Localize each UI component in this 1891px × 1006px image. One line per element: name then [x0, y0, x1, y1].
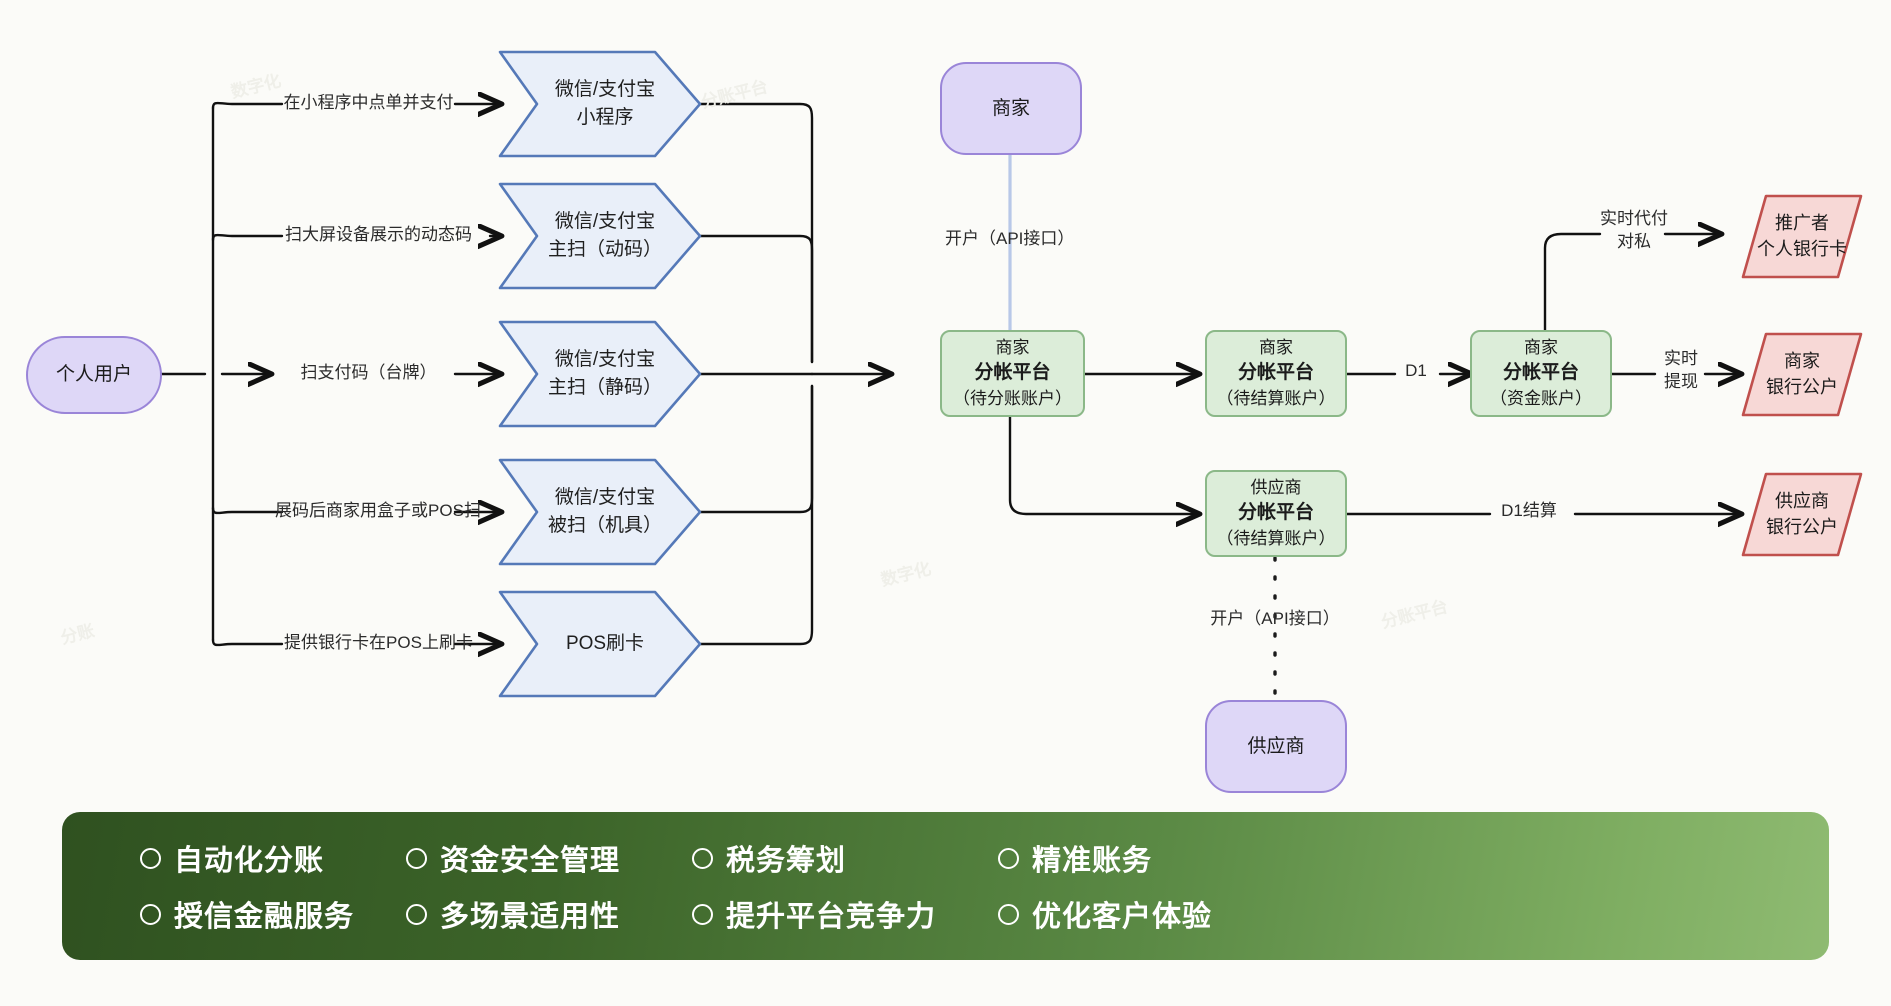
node-supplier-actor[interactable]: 供应商: [1205, 700, 1347, 793]
channel-line2: 小程序: [530, 104, 680, 132]
feature-item[interactable]: 自动化分账: [140, 837, 390, 879]
node-account-merchant-pending-split[interactable]: 商家 分帐平台 （待分账账户）: [940, 330, 1085, 417]
node-channel-scanned-device[interactable]: 微信/支付宝 被扫（机具）: [530, 460, 680, 564]
feature-label: 提升平台竞争力: [726, 893, 936, 935]
node-label: 个人用户: [56, 362, 132, 388]
edge-label-supplier-open-account: 开户（API接口）: [1165, 608, 1385, 631]
feature-row-1: 自动化分账 资金安全管理 税务筹划 精准账务: [140, 837, 1829, 879]
edge-label-realtime-agent-pay: 实时代付 对私: [1586, 208, 1682, 254]
edge-label-d1: D1: [1388, 360, 1444, 383]
node-endpoint-promoter-card[interactable]: 推广者 个人银行卡: [1743, 196, 1861, 277]
edge-label-pos-swipe: 提供银行卡在POS上刷卡: [267, 632, 490, 655]
feature-item[interactable]: 精准账务: [998, 837, 1248, 879]
channel-line1: POS刷卡: [530, 630, 680, 658]
endpoint-line2: 个人银行卡: [1743, 237, 1861, 262]
channel-line1: 微信/支付宝: [530, 484, 680, 512]
feature-item[interactable]: 优化客户体验: [998, 893, 1248, 935]
edge-label-line1: 实时代付: [1586, 208, 1682, 231]
channel-line2: 主扫（静码）: [530, 374, 680, 402]
feature-label: 优化客户体验: [1032, 893, 1212, 935]
feature-item[interactable]: 授信金融服务: [140, 893, 390, 935]
diagram-canvas: 数字化 分账平台 分账 数字化 分账平台 个人用户 商家 供应商 微信/支付宝 …: [0, 0, 1891, 1006]
edge-label-line1: 实时: [1650, 348, 1712, 371]
edge-label-line2: 对私: [1586, 231, 1682, 254]
endpoint-line1: 商家: [1743, 349, 1861, 374]
account-owner: 供应商: [1251, 476, 1302, 500]
feature-label: 多场景适用性: [440, 893, 620, 935]
feature-label: 自动化分账: [174, 837, 324, 879]
feature-item[interactable]: 多场景适用性: [406, 893, 676, 935]
node-account-merchant-pending-settle[interactable]: 商家 分帐平台 （待结算账户）: [1205, 330, 1347, 417]
feature-item[interactable]: 税务筹划: [692, 837, 982, 879]
circle-bullet-icon: [406, 904, 427, 925]
account-type: （资金账户）: [1490, 387, 1592, 411]
circle-bullet-icon: [998, 848, 1019, 869]
circle-bullet-icon: [998, 904, 1019, 925]
edge-label-merchant-open-account: 开户（API接口）: [945, 228, 1165, 251]
feature-banner: 自动化分账 资金安全管理 税务筹划 精准账务 授信金融服务 多场景适用: [62, 812, 1829, 960]
edge-label-dynamic-code: 扫大屏设备展示的动态码: [267, 224, 490, 247]
circle-bullet-icon: [140, 904, 161, 925]
endpoint-line1: 供应商: [1743, 489, 1861, 514]
channel-line2: 主扫（动码）: [530, 236, 680, 264]
account-owner: 商家: [1524, 336, 1558, 360]
endpoint-line2: 银行公户: [1743, 515, 1861, 540]
channel-line1: 微信/支付宝: [530, 76, 680, 104]
watermark: 分账: [57, 616, 96, 648]
circle-bullet-icon: [140, 848, 161, 869]
node-channel-static-code[interactable]: 微信/支付宝 主扫（静码）: [530, 322, 680, 426]
account-type: （待结算账户）: [1217, 387, 1336, 411]
node-channel-dynamic-code[interactable]: 微信/支付宝 主扫（动码）: [530, 184, 680, 288]
edge-label-scanned-device: 展码后商家用盒子或POS扫: [263, 500, 493, 523]
node-account-supplier-pending-settle[interactable]: 供应商 分帐平台 （待结算账户）: [1205, 470, 1347, 557]
edge-label-d1-settle: D1结算: [1483, 500, 1575, 523]
channel-line1: 微信/支付宝: [530, 346, 680, 374]
feature-label: 授信金融服务: [174, 893, 354, 935]
account-type: （待结算账户）: [1217, 527, 1336, 551]
node-label: 商家: [992, 96, 1030, 122]
account-platform: 分帐平台: [974, 360, 1050, 387]
account-platform: 分帐平台: [1503, 360, 1579, 387]
node-account-merchant-funds[interactable]: 商家 分帐平台 （资金账户）: [1470, 330, 1612, 417]
edge-label-miniprogram: 在小程序中点单并支付: [282, 92, 455, 115]
feature-row-2: 授信金融服务 多场景适用性 提升平台竞争力 优化客户体验: [140, 893, 1829, 935]
node-channel-pos-swipe[interactable]: POS刷卡: [530, 592, 680, 696]
node-merchant-actor[interactable]: 商家: [940, 62, 1082, 155]
edge-label-static-code: 扫支付码（台牌）: [282, 362, 455, 385]
watermark: 数字化: [878, 554, 934, 591]
node-label: 供应商: [1247, 734, 1304, 760]
feature-item[interactable]: 提升平台竞争力: [692, 893, 982, 935]
node-endpoint-supplier-bank[interactable]: 供应商 银行公户: [1743, 474, 1861, 555]
endpoint-line2: 银行公户: [1743, 375, 1861, 400]
endpoint-line1: 推广者: [1743, 211, 1861, 236]
account-owner: 商家: [1259, 336, 1293, 360]
account-platform: 分帐平台: [1238, 500, 1314, 527]
node-endpoint-merchant-bank[interactable]: 商家 银行公户: [1743, 334, 1861, 415]
account-platform: 分帐平台: [1238, 360, 1314, 387]
watermark: 分账平台: [698, 72, 770, 113]
watermark: 数字化: [228, 66, 284, 103]
edge-label-realtime-withdraw: 实时 提现: [1650, 348, 1712, 394]
feature-label: 精准账务: [1032, 837, 1152, 879]
account-owner: 商家: [996, 336, 1030, 360]
feature-label: 资金安全管理: [440, 837, 620, 879]
watermark: 分账平台: [1378, 592, 1450, 633]
circle-bullet-icon: [692, 904, 713, 925]
node-channel-miniprogram[interactable]: 微信/支付宝 小程序: [530, 52, 680, 156]
edge-label-line2: 提现: [1650, 371, 1712, 394]
node-individual-user[interactable]: 个人用户: [26, 336, 162, 414]
channel-line2: 被扫（机具）: [530, 512, 680, 540]
circle-bullet-icon: [406, 848, 427, 869]
channel-line1: 微信/支付宝: [530, 208, 680, 236]
feature-item[interactable]: 资金安全管理: [406, 837, 676, 879]
feature-label: 税务筹划: [726, 837, 846, 879]
account-type: （待分账账户）: [953, 387, 1072, 411]
circle-bullet-icon: [692, 848, 713, 869]
